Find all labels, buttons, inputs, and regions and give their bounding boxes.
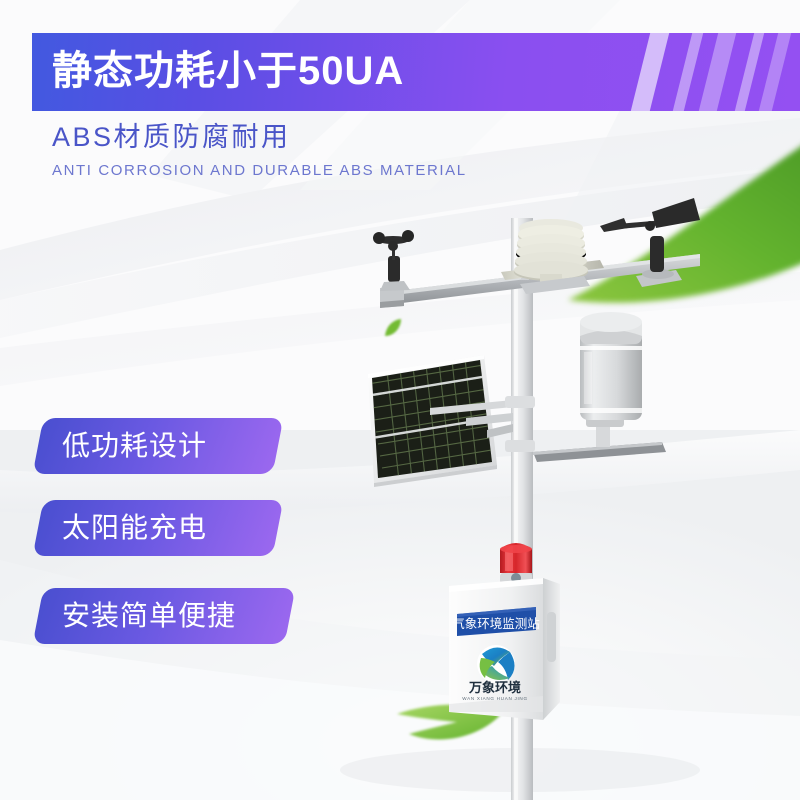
brand-logo-icon bbox=[477, 645, 515, 683]
feature-pill-label: 安装简单便捷 bbox=[38, 588, 290, 644]
product-label-text: 气象环境监测站 bbox=[452, 616, 540, 631]
brand-name-pinyin: WAN XIANG HUAN JING bbox=[462, 696, 527, 701]
header-banner: 静态功耗小于50UA bbox=[32, 33, 800, 111]
subtitle-chinese: ABS材质防腐耐用 bbox=[52, 124, 291, 151]
subtitle-english: ANTI CORROSION AND DURABLE ABS MATERIAL bbox=[52, 163, 467, 178]
control-box: 气象环境监测站 万象环境 WAN XIANG HUAN JING bbox=[449, 578, 560, 720]
rain-gauge-sensor bbox=[533, 312, 666, 462]
feature-pill-low-power: 低功耗设计 bbox=[33, 418, 284, 474]
anemometer-sensor bbox=[373, 230, 414, 291]
brand-name-cn: 万象环境 bbox=[468, 680, 521, 695]
banner-title: 静态功耗小于50UA bbox=[52, 51, 404, 91]
feature-pill-easy-install: 安装简单便捷 bbox=[33, 588, 296, 644]
weather-station-illustration: 气象环境监测站 万象环境 WAN XIANG HUAN JING bbox=[0, 0, 800, 800]
solar-panel bbox=[366, 340, 535, 490]
product-banner-page: 气象环境监测站 万象环境 WAN XIANG HUAN JING 静态功耗小于5… bbox=[0, 0, 800, 800]
feature-pill-solar-charging: 太阳能充电 bbox=[33, 500, 284, 556]
feature-pill-label: 低功耗设计 bbox=[38, 418, 278, 474]
feature-pill-label: 太阳能充电 bbox=[38, 500, 278, 556]
